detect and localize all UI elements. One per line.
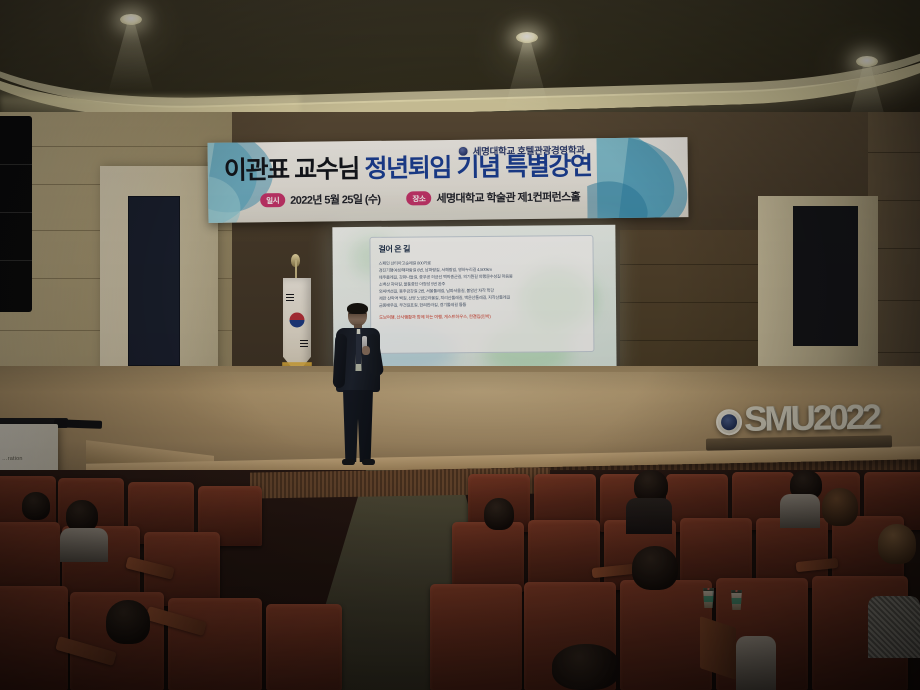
seat — [168, 598, 262, 690]
audience-shoulders — [60, 528, 108, 562]
taeguk-symbol — [290, 313, 305, 328]
audience-shoulders — [780, 494, 820, 528]
stage-floor-highlight — [170, 372, 790, 462]
taegukgi-cloth — [283, 278, 311, 374]
banner-info-row: 일시 2022년 5월 25일 (수) 장소 세명대학교 학술관 제1컨퍼런스홀 — [260, 188, 580, 208]
audience-head — [822, 488, 858, 526]
audience-shoulders — [736, 636, 776, 690]
university-seal-icon — [716, 409, 742, 435]
podium-arm — [54, 419, 102, 429]
seat — [452, 522, 524, 592]
spotlight-icon — [856, 56, 878, 67]
banner-title-subject: 정년퇴임 기념 특별강연 — [364, 152, 591, 183]
seat — [266, 604, 342, 690]
wall-mounted-display-right — [793, 206, 858, 346]
loudspeaker-icon — [0, 116, 32, 312]
presenter — [330, 304, 388, 472]
podium-label: …ration — [2, 456, 58, 462]
audience-head — [552, 644, 620, 690]
banner-place-value: 세명대학교 학술관 제1컨퍼런스홀 — [436, 188, 580, 206]
seat — [430, 584, 522, 690]
event-banner: 세명대학교 호텔관광경영학과 이관표 교수님 정년퇴임 기념 특별강연 일시 2… — [208, 137, 689, 223]
spotlight-icon — [516, 32, 538, 43]
presenter-legs — [343, 390, 373, 462]
smu-sculpture: SMU2022 — [716, 403, 879, 436]
sculpture-text: SMU2022 — [744, 403, 879, 435]
slide-body-line: 금동배우길, 무건길포길, 한려한라길, 경기둘레길 등등 — [379, 301, 585, 310]
place-pill-label: 장소 — [406, 191, 431, 205]
audience-head — [632, 546, 678, 590]
seat — [528, 520, 600, 590]
spotlight-icon — [120, 14, 142, 25]
banner-title: 이관표 교수님 정년퇴임 기념 특별강연 — [224, 152, 674, 184]
audience-shoulders — [868, 596, 920, 658]
slide-footer-note: 도보여행, 산사행활과 함께 하는 여행, 게스트하우스, 한결집(민박) — [379, 313, 585, 321]
auditorium-lecture-photo: 세명대학교 호텔관광경영학과 이관표 교수님 정년퇴임 기념 특별강연 일시 2… — [0, 0, 920, 690]
presenter-shoe — [342, 459, 355, 465]
seat — [620, 580, 712, 690]
slide-title: 걸어 온 길 — [378, 242, 584, 255]
banner-title-name: 이관표 교수님 — [224, 155, 365, 185]
audience-head — [106, 600, 150, 644]
audience-shoulders — [626, 498, 672, 534]
date-pill-label: 일시 — [260, 193, 285, 207]
audience-head — [22, 492, 50, 520]
slide-content-card: 걸어 온 길 스페인 산티아고순례길 800키로 경진기행여성/해파랑길 6번,… — [369, 235, 594, 354]
glasses-icon — [349, 313, 366, 316]
audience-head — [484, 498, 514, 530]
presenter-hand — [362, 346, 370, 355]
banner-decoration-right — [586, 137, 688, 223]
wall-mounted-display — [128, 196, 180, 366]
presenter-tie — [356, 334, 361, 364]
audience-head — [878, 524, 916, 564]
presenter-shoe — [362, 459, 375, 465]
banner-date-value: 2022년 5월 25일 (수) — [290, 191, 380, 208]
